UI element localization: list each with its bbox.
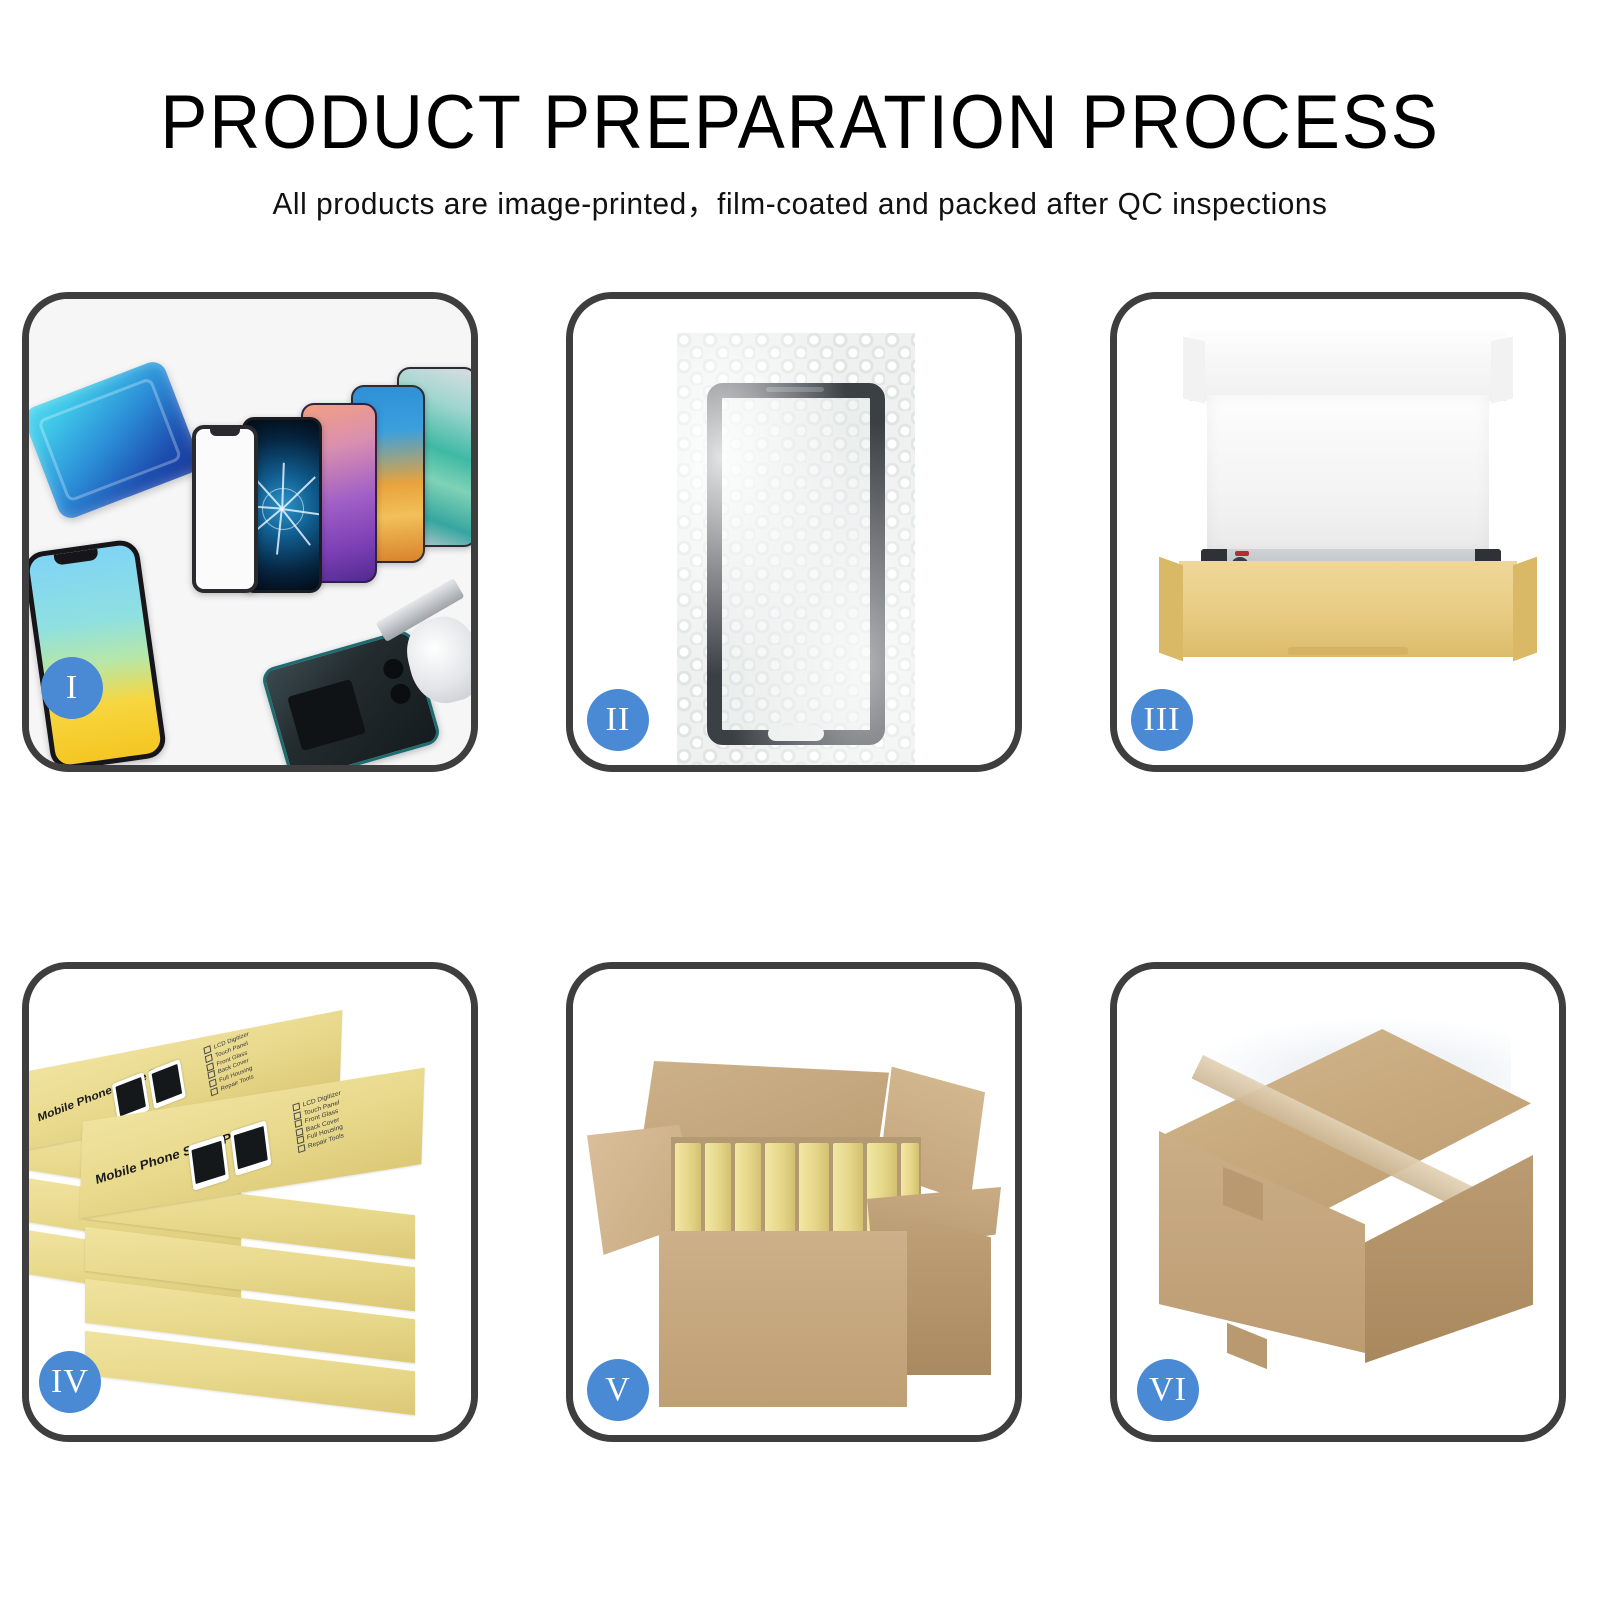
step-badge-1: I [41,657,103,719]
box-checklist-top: LCD Digitizer Touch Panel Front Glass Ba… [203,1030,256,1097]
camera-lens-part [381,657,406,682]
step-badge-4: IV [39,1351,101,1413]
step-badge-2: II [587,689,649,751]
carton-body-front [659,1231,907,1407]
adhesive-frame-part [29,358,203,522]
foam-padding [1207,395,1489,551]
phone-broken-display [29,538,168,765]
kraft-box-body [1179,561,1517,657]
box-stack: Mobile Phone Spare Parts LCD Digitizer T… [29,995,471,1425]
step-panel-3[interactable]: III [1110,292,1566,772]
home-button-cutout [768,726,824,741]
step-badge-5: V [587,1359,649,1421]
box-checklist-second: LCD Digitizer Touch Panel Front Glass Ba… [292,1090,346,1155]
step-panel-6[interactable]: VI [1110,962,1566,1442]
step-panel-1[interactable]: I [22,292,478,772]
box-lid [1189,331,1507,401]
scene-bubble-wrap [573,299,1015,765]
step-badge-6: VI [1137,1359,1199,1421]
screen-frame [707,383,885,745]
red-marker [1235,551,1249,556]
step-panel-5[interactable]: V [566,962,1022,1442]
step-grid: I II [0,0,1600,1600]
carton-tab-lower [1227,1323,1267,1369]
carton-body-side [907,1215,991,1375]
step-panel-2[interactable]: II [566,292,1022,772]
scene-inner-box [1117,299,1559,765]
bubble-wrapped-screen [677,333,915,765]
step-panel-4[interactable]: Mobile Phone Spare Parts LCD Digitizer T… [22,962,478,1442]
infographic-page: PRODUCT PREPARATION PROCESS All products… [0,0,1600,1600]
box-phone-image-second-b [230,1120,271,1176]
scene-open-carton [573,969,1015,1435]
front-glass-part [192,425,258,593]
box-front-tab [1288,647,1408,655]
box-phone-image-second-a [188,1135,229,1191]
battery-part [287,679,366,751]
step-badge-3: III [1131,689,1193,751]
